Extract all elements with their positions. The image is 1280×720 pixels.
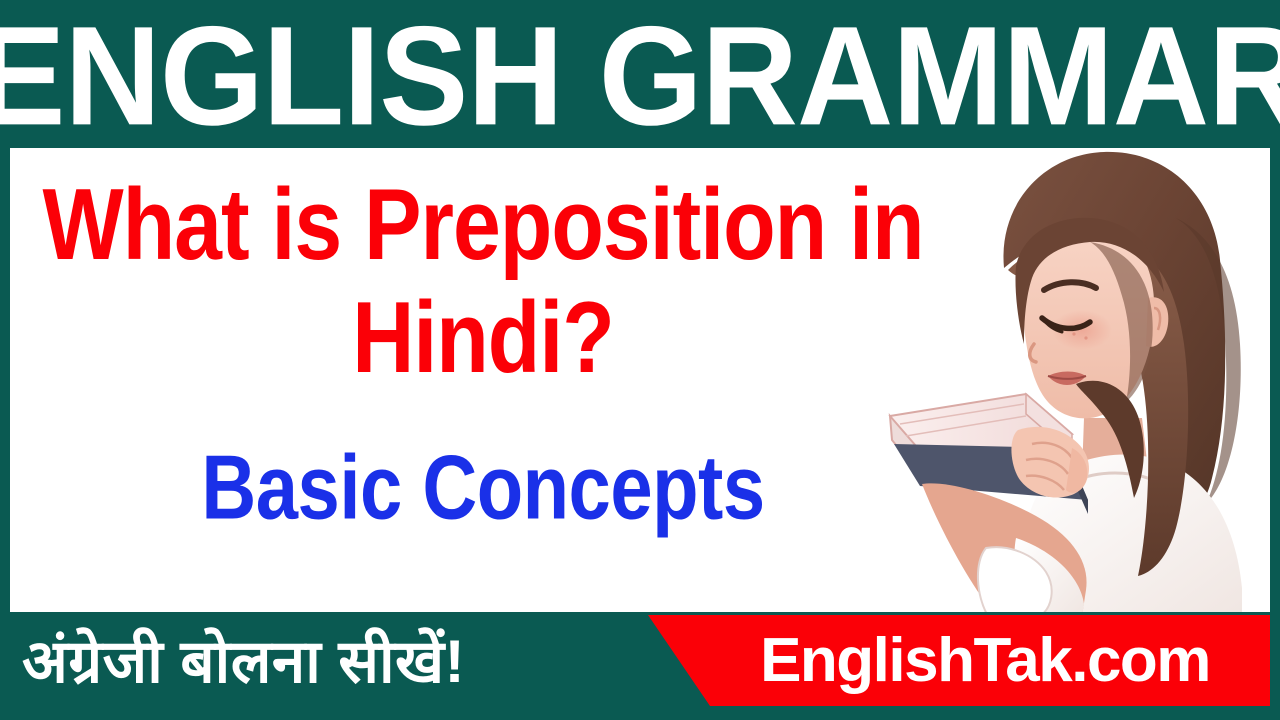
youtube-thumbnail-canvas: ENGLISH GRAMMAR What is Preposition in H… bbox=[0, 0, 1280, 720]
text-block: What is Preposition in Hindi? Basic Conc… bbox=[38, 168, 928, 361]
headline: What is Preposition in Hindi? bbox=[38, 168, 928, 395]
header-title: ENGLISH GRAMMAR bbox=[0, 5, 1280, 144]
site-name-label: EnglishTak.com bbox=[700, 615, 1270, 706]
hindi-tagline: अंग्रेजी बोलना सीखें! bbox=[22, 620, 465, 704]
girl-reading-book-illustration bbox=[876, 148, 1270, 612]
header-band: ENGLISH GRAMMAR bbox=[0, 0, 1280, 148]
content-panel: What is Preposition in Hindi? Basic Conc… bbox=[10, 148, 1270, 612]
footer-band: अंग्रेजी बोलना सीखें! EnglishTak.com bbox=[0, 612, 1280, 720]
subheadline: Basic Concepts bbox=[38, 438, 928, 538]
